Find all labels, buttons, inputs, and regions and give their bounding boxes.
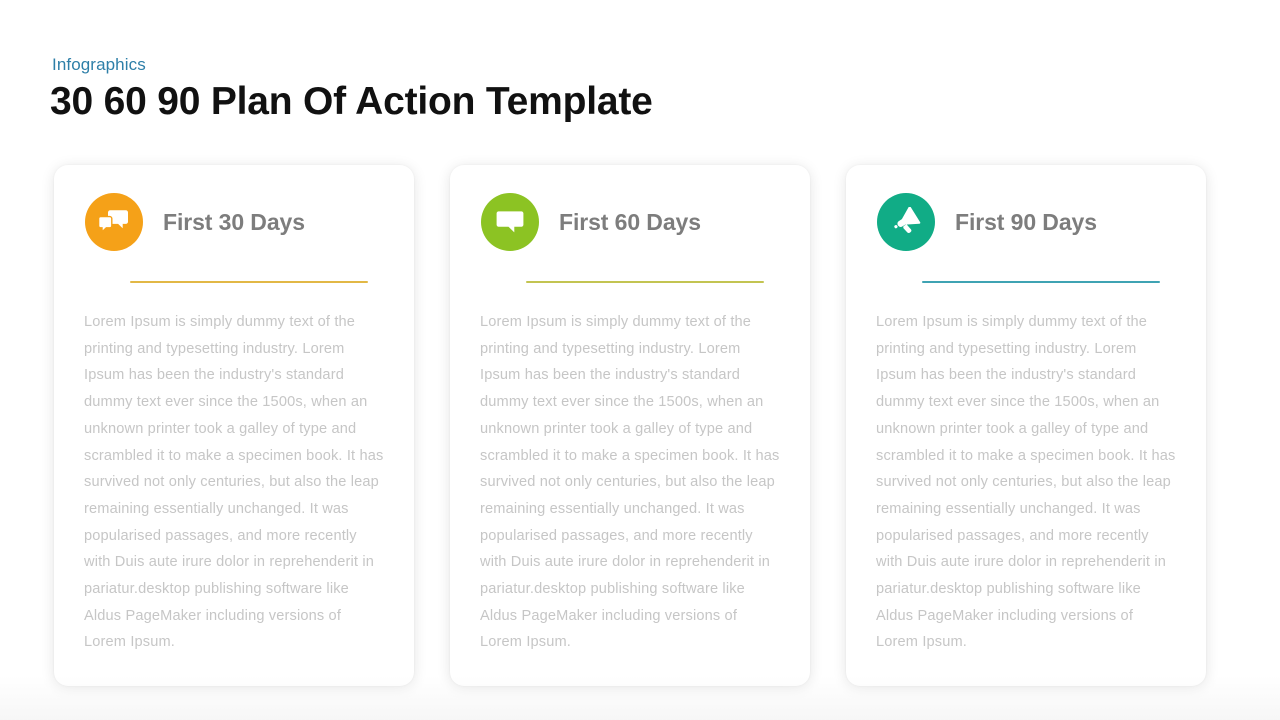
- card-divider: [130, 281, 368, 283]
- card-title: First 90 Days: [955, 209, 1097, 236]
- card-body-text: Lorem Ipsum is simply dummy text of the …: [876, 309, 1176, 656]
- card-body-text: Lorem Ipsum is simply dummy text of the …: [480, 309, 780, 656]
- megaphone-icon: [891, 207, 921, 237]
- card-header: First 30 Days: [82, 193, 386, 251]
- chat-bubbles-icon: [99, 208, 129, 236]
- card-body-text: Lorem Ipsum is simply dummy text of the …: [84, 309, 384, 656]
- badge-circle-60: [481, 193, 539, 251]
- badge-circle-90: [877, 193, 935, 251]
- card-title: First 30 Days: [163, 209, 305, 236]
- eyebrow-label: Infographics: [52, 55, 653, 75]
- cards-row: First 30 Days Lorem Ipsum is simply dumm…: [54, 165, 1206, 686]
- card-header: First 90 Days: [874, 193, 1178, 251]
- card-divider: [526, 281, 764, 283]
- card-first-60-days[interactable]: First 60 Days Lorem Ipsum is simply dumm…: [450, 165, 810, 686]
- page-title: 30 60 90 Plan Of Action Template: [50, 81, 653, 124]
- badge-circle-30: [85, 193, 143, 251]
- card-first-30-days[interactable]: First 30 Days Lorem Ipsum is simply dumm…: [54, 165, 414, 686]
- chat-bubble-icon: [496, 209, 524, 235]
- card-first-90-days[interactable]: First 90 Days Lorem Ipsum is simply dumm…: [846, 165, 1206, 686]
- card-title: First 60 Days: [559, 209, 701, 236]
- slide-header: Infographics 30 60 90 Plan Of Action Tem…: [50, 55, 653, 124]
- card-header: First 60 Days: [478, 193, 782, 251]
- card-divider: [922, 281, 1160, 283]
